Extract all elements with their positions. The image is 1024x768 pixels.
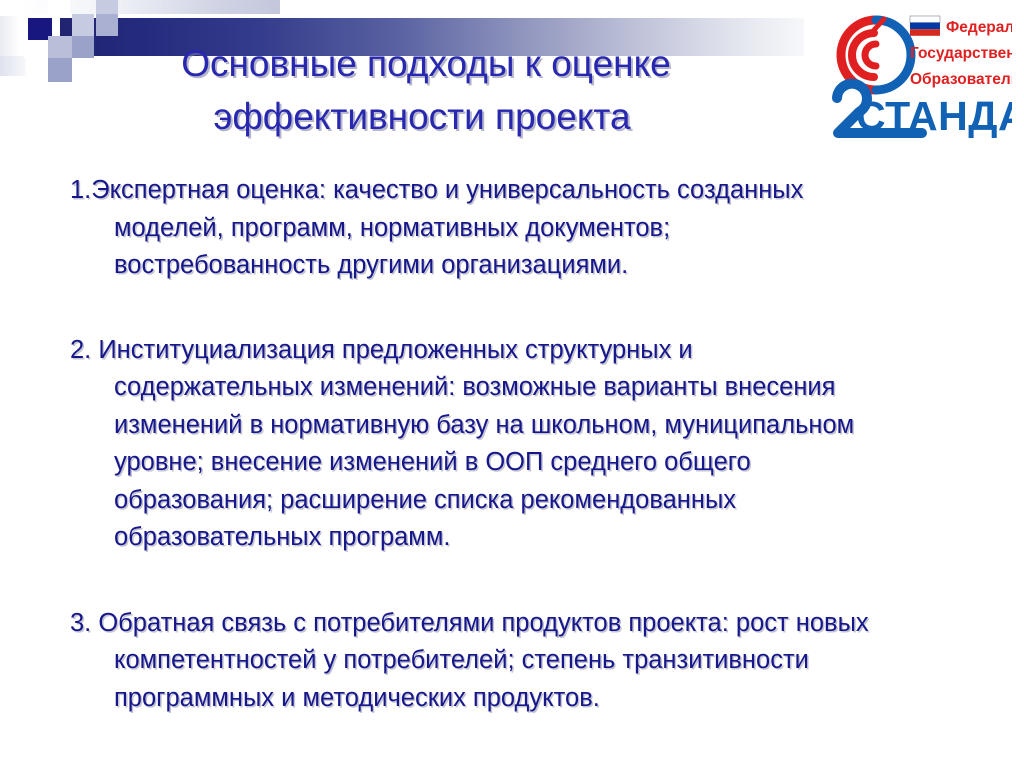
fgos-logo: Федеральный Государственный Образователь… bbox=[804, 6, 1012, 148]
mosaic-square-light-1 bbox=[48, 0, 70, 14]
mosaic-square-pale-2 bbox=[0, 56, 26, 76]
mosaic-square-mid-6 bbox=[48, 58, 72, 82]
presentation-slide: Основные подходы к оценке эффективности … bbox=[0, 0, 1024, 768]
slide-title-line-2: эффективности проекта bbox=[74, 91, 770, 144]
russian-flag-icon bbox=[910, 16, 940, 36]
body-paragraph-1: 1.Экспертная оценка: качество и универса… bbox=[70, 172, 804, 285]
mosaic-square-mid-1 bbox=[72, 14, 94, 36]
slide-title-line-1: Основные подходы к оценке bbox=[82, 38, 770, 91]
slide-title: Основные подходы к оценке эффективности … bbox=[70, 38, 770, 143]
mosaic-square-light-2 bbox=[24, 40, 46, 58]
mosaic-square-mid-3 bbox=[96, 14, 118, 36]
logo-line-2: Государственный bbox=[910, 45, 1012, 62]
logo-line-3: Образовательный bbox=[910, 71, 1012, 88]
mosaic-square-mid-2 bbox=[96, 0, 118, 14]
body-paragraph-3: 3. Обратная связь с потребителями продук… bbox=[70, 605, 974, 718]
body-paragraph-2: 2. Институциализация предложенных структ… bbox=[70, 332, 874, 557]
mosaic-square-mid-4 bbox=[48, 36, 72, 58]
header-thin-gradient-bar bbox=[20, 0, 280, 14]
mosaic-square-navy bbox=[28, 18, 52, 40]
mosaic-square-pale-1 bbox=[0, 16, 20, 58]
logo-line-1: Федеральный bbox=[946, 19, 1012, 36]
slide-body: 1.Экспертная оценка: качество и универса… bbox=[70, 172, 970, 717]
logo-wordmark: СТАНДАРТ bbox=[856, 93, 1012, 139]
